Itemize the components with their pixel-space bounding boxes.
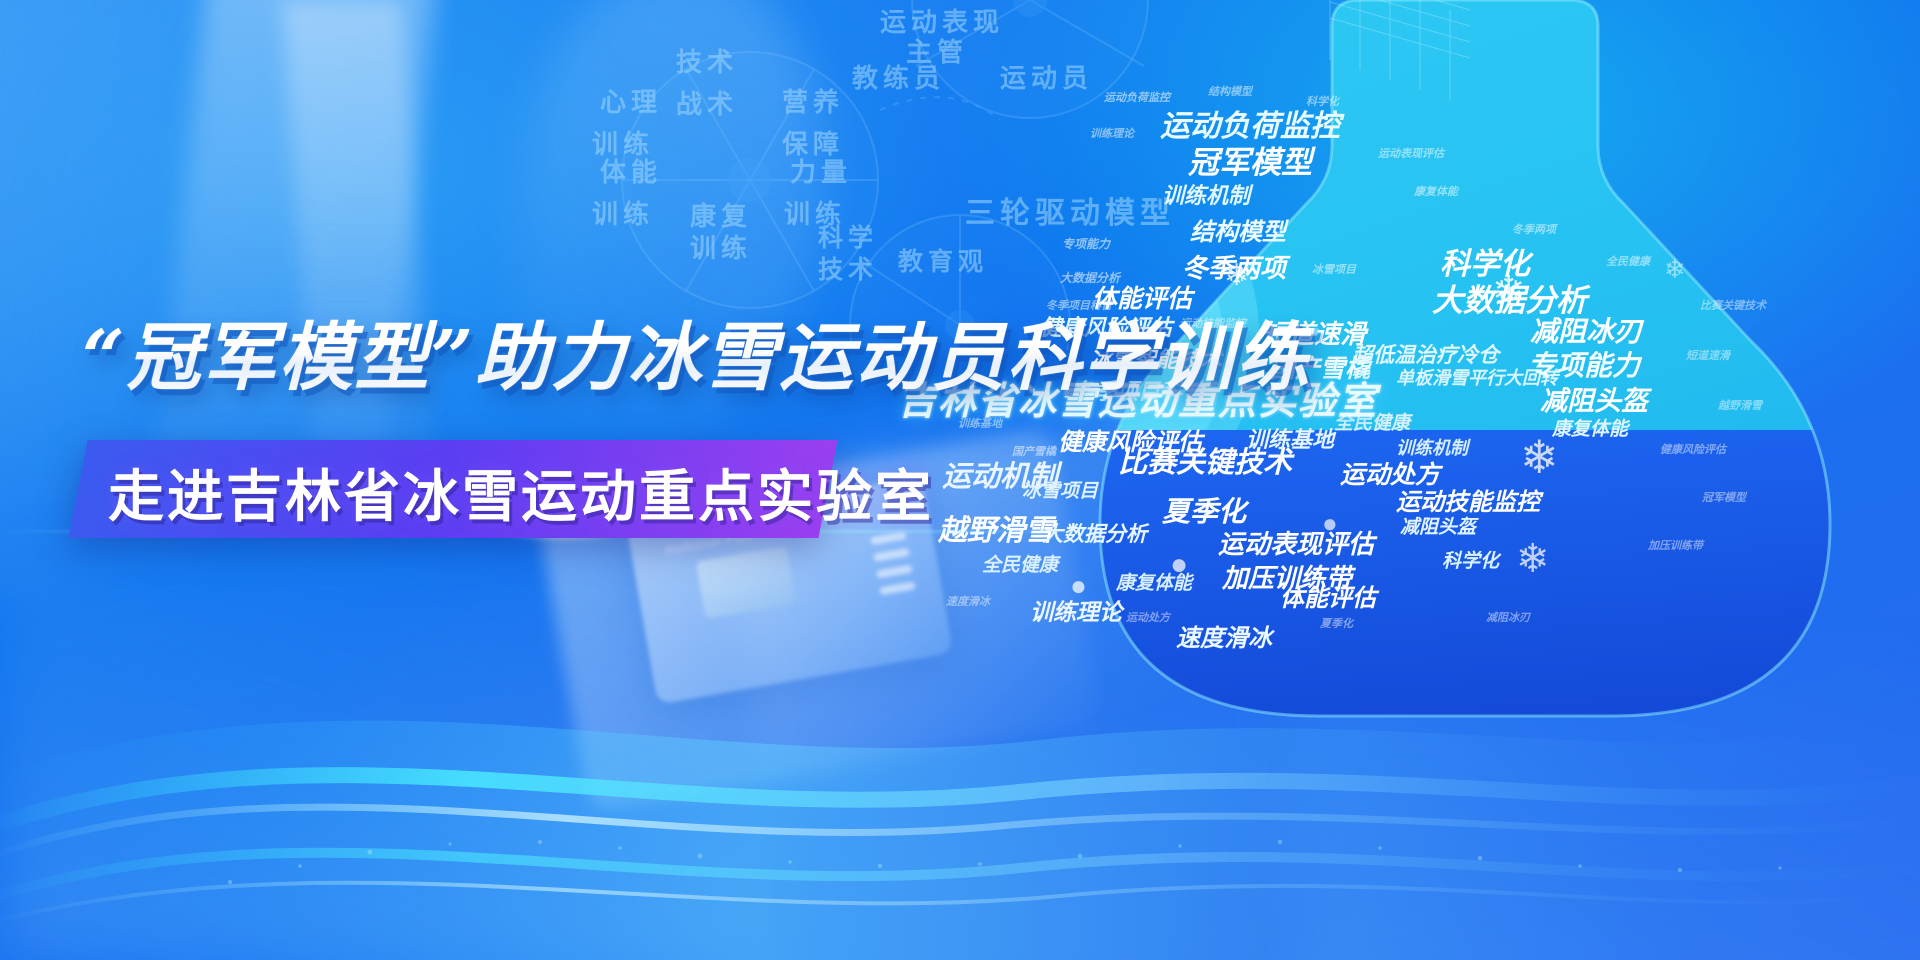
- snowflake-icon-2: ❄: [1492, 268, 1526, 314]
- wc-small-22: 夏季化: [1320, 618, 1353, 629]
- wc-small-15: 越野滑雪: [1718, 400, 1762, 411]
- wc-large-35: 运动技能监控: [1396, 490, 1540, 514]
- wc-large-30: 体能评估: [1280, 586, 1376, 610]
- wheel-label-xunlian-4: 训练: [592, 124, 654, 161]
- wc-large-22: 夏季化: [1162, 498, 1246, 526]
- wc-large-11: 超低温治疗冷仓: [1352, 345, 1499, 366]
- wheel-label-xunlian-3: 训练: [592, 194, 654, 231]
- wc-large-32: 训练基地: [1246, 430, 1334, 452]
- wc-small-5: 科学化: [1306, 96, 1339, 107]
- snowflake-icon-5: ❄: [1664, 254, 1686, 285]
- poster-headline: “冠军模型”助力冰雪运动员科学训练: [82, 298, 1311, 405]
- wc-small-11: 冬季两项: [1512, 224, 1556, 235]
- wc-large-36: 减阻头盔: [1400, 518, 1476, 537]
- wc-small-13: 比赛关键技术: [1700, 300, 1766, 311]
- wc-large-0: 运动负荷监控: [1160, 112, 1340, 142]
- snowflake-icon-4: ❄: [1516, 536, 1550, 582]
- wc-small-4: 大数据分析: [1060, 272, 1120, 284]
- wc-large-37: 速度滑冰: [1176, 626, 1272, 650]
- wc-small-18: 加压训练带: [1648, 540, 1703, 551]
- wc-large-3: 结构模型: [1190, 220, 1286, 244]
- wc-large-38: 训练机制: [1396, 440, 1468, 458]
- wc-small-7: 运动表现评估: [1378, 148, 1444, 159]
- wc-large-1: 冠军模型: [1188, 148, 1312, 179]
- wc-small-10: 冰雪项目: [1312, 264, 1356, 275]
- wc-small-24: 国产雪橇: [1012, 446, 1056, 457]
- wc-small-1: 结构模型: [1208, 86, 1252, 97]
- wheel-label-xunlian-2: 训练: [690, 228, 752, 265]
- wc-large-16: 专项能力: [1528, 352, 1640, 380]
- poster-canvas: Reflotron Plus 技术 战术 营养 保障 力量 训练 康复 训练 体…: [0, 0, 1920, 960]
- wc-large-26: 运动表现评估: [1218, 532, 1374, 558]
- snowflake-icon-3: ❄: [1520, 430, 1559, 484]
- wc-large-24: 健康风险评估: [1058, 430, 1202, 454]
- schem-label-technology: 技术: [818, 250, 878, 286]
- wc-small-21: 运动处方: [1126, 612, 1170, 623]
- dot-marker-2: ●: [1322, 508, 1338, 539]
- wc-large-15: 减阻冰刃: [1530, 318, 1642, 346]
- wc-large-17: 减阻头盔: [1540, 388, 1648, 415]
- wc-large-2: 训练机制: [1162, 186, 1250, 208]
- wc-small-0: 运动负荷监控: [1104, 92, 1170, 103]
- wc-large-39: 科学化: [1442, 552, 1499, 571]
- wc-large-28: 全民健康: [982, 556, 1058, 575]
- wc-small-16: 健康风险评估: [1660, 444, 1726, 455]
- wc-large-18: 康复体能: [1552, 420, 1628, 439]
- wc-small-20: 速度滑冰: [946, 596, 990, 607]
- wc-small-17: 冠军模型: [1702, 492, 1746, 503]
- dot-marker-1: ●: [1170, 548, 1188, 582]
- snowflake-icon-1: ❄: [1224, 258, 1249, 293]
- wc-small-14: 短道速滑: [1686, 350, 1730, 361]
- wc-small-2: 训练理论: [1090, 128, 1134, 139]
- wc-small-3: 专项能力: [1062, 238, 1110, 250]
- wheel-label-yingyang: 营养: [782, 82, 844, 119]
- device-buttons: [870, 531, 916, 595]
- wc-large-31: 运动处方: [1340, 462, 1440, 487]
- wheel-label-zhanshu: 战术: [676, 84, 738, 121]
- poster-subtitle: 走进吉林省冰雪运动重点实验室: [108, 452, 934, 533]
- wc-large-25: 大数据分析: [1042, 524, 1147, 545]
- device-screen: [696, 546, 797, 619]
- org-label-coach: 教练员: [852, 58, 945, 95]
- wheel-label-jishu: 技术: [676, 42, 738, 79]
- snowflake-icon-6: ●: [1070, 570, 1087, 602]
- wc-small-6: 康复体能: [1414, 186, 1458, 197]
- wc-large-23: 冰雪项目: [1022, 482, 1098, 501]
- wc-large-29: 训练理论: [1030, 602, 1122, 625]
- wc-small-23: 减阻冰刃: [1486, 612, 1530, 623]
- wheel-label-xinli: 心理: [600, 82, 662, 119]
- wheel-label-liliang: 力量: [790, 152, 852, 189]
- schem-label-science: 科学: [818, 218, 878, 254]
- schem-label-education-view: 教育观: [898, 242, 988, 278]
- wc-small-12: 全民健康: [1606, 256, 1650, 267]
